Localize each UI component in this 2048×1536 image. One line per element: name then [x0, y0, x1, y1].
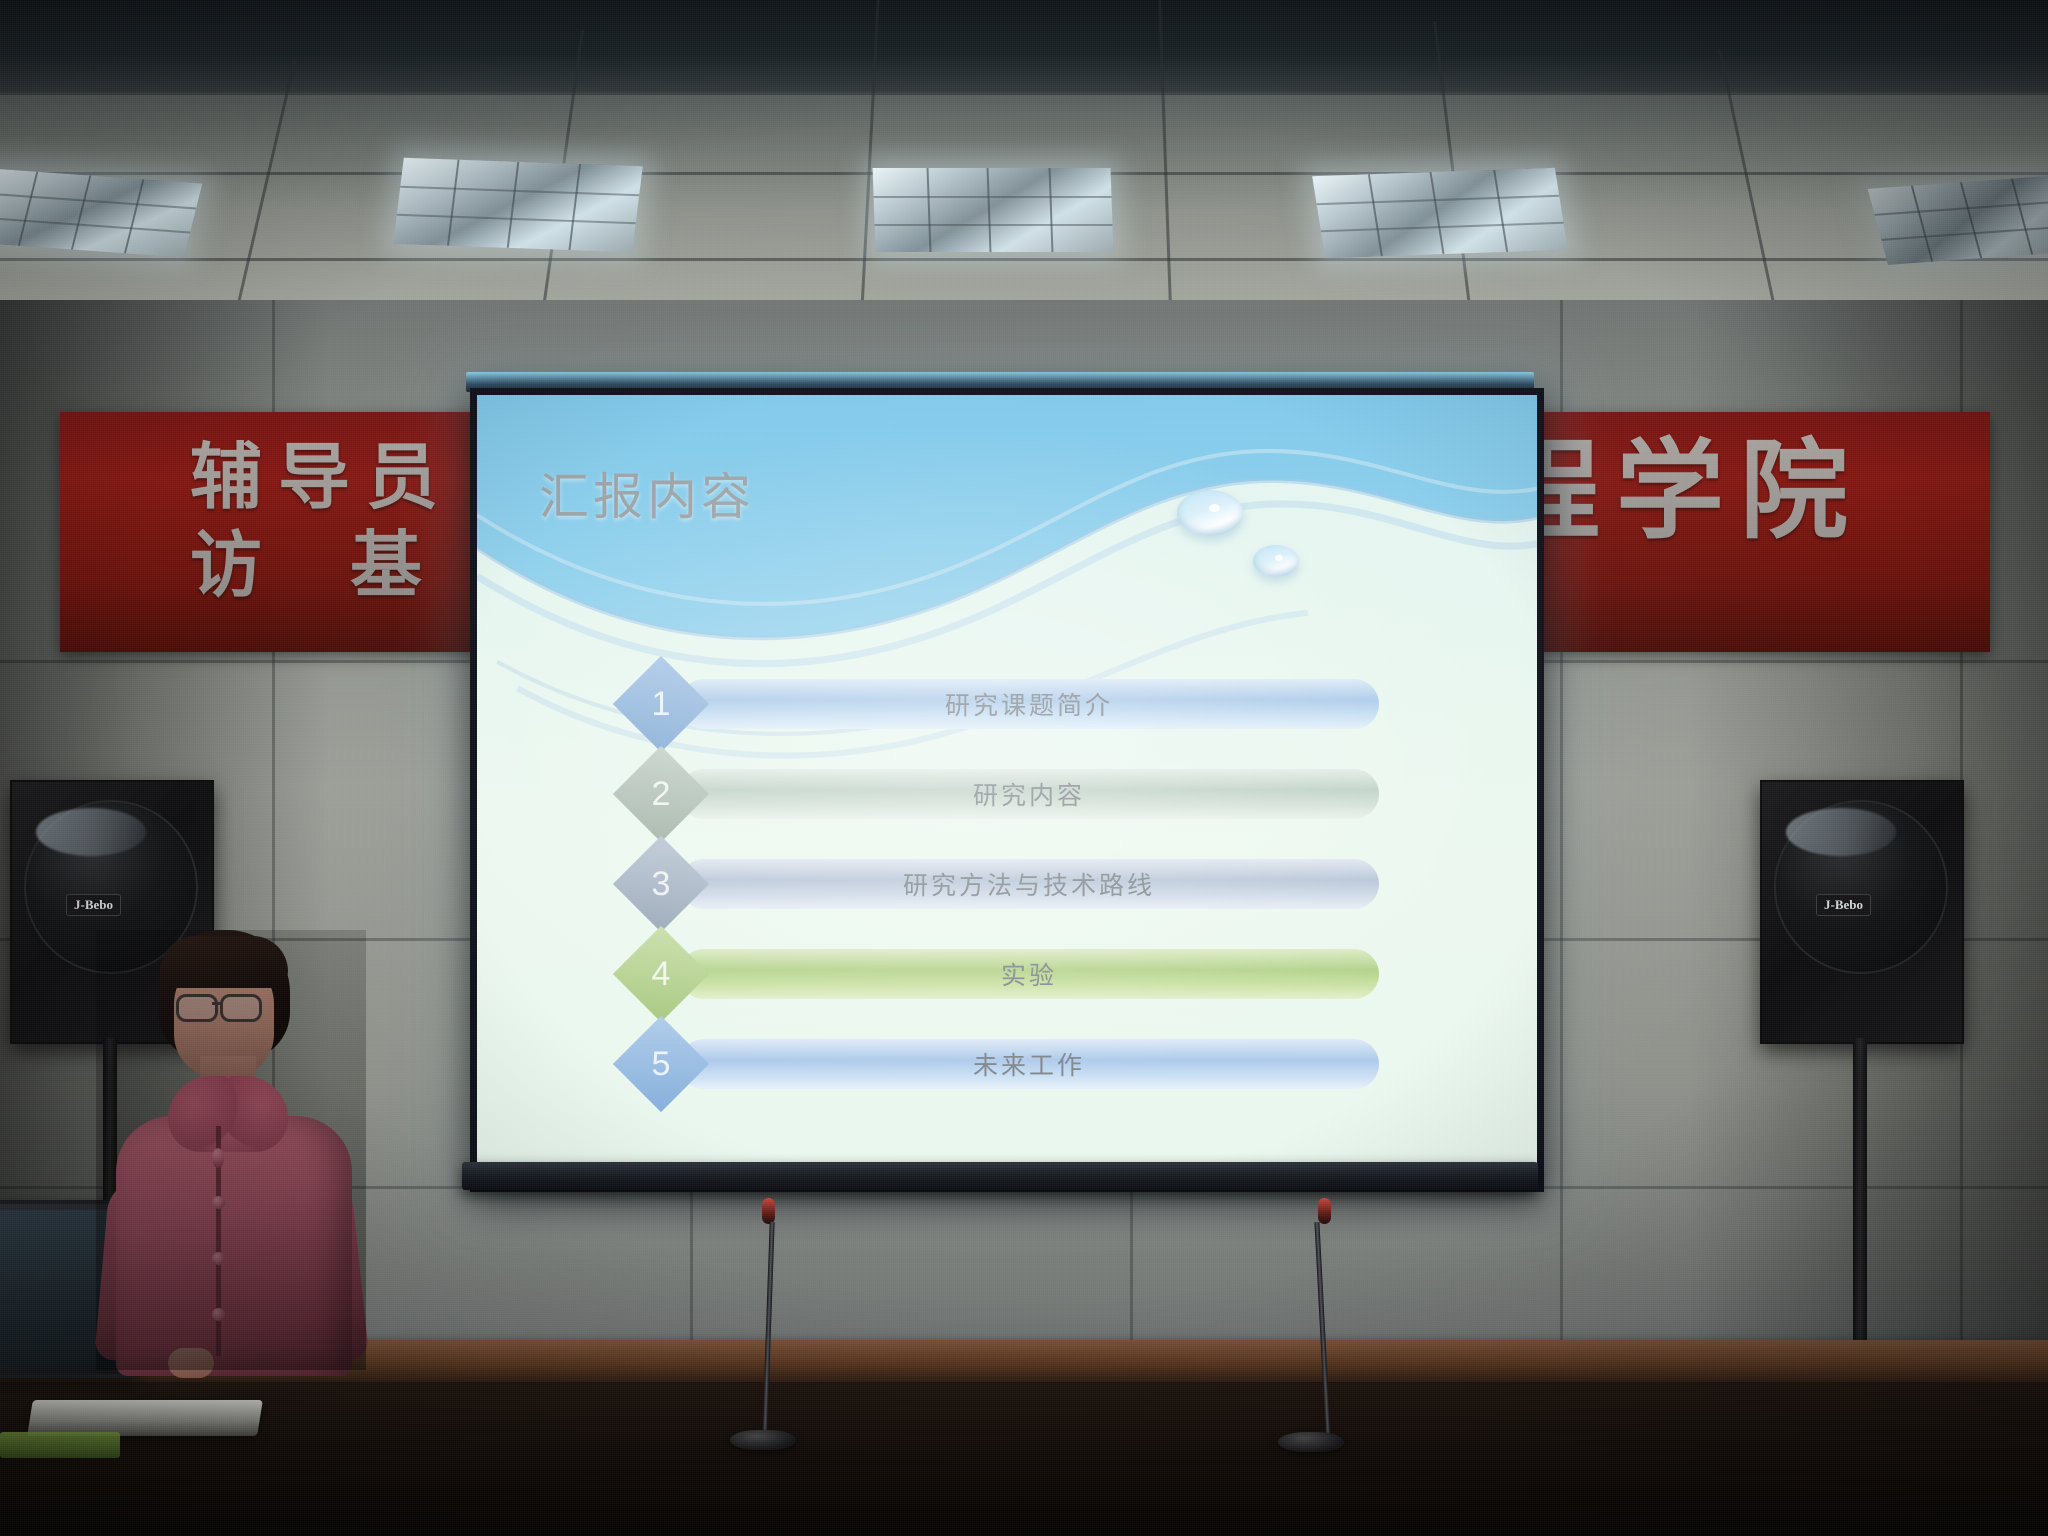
list-item-label: 研究内容	[679, 769, 1379, 819]
presenter-jacket	[116, 1116, 352, 1376]
presenter-hair-front	[160, 936, 288, 988]
list-item[interactable]: 未来工作 5	[627, 1025, 1427, 1115]
ceiling	[0, 0, 2048, 330]
presentation-slide: 汇报内容 研究课题简介 1 研究内容 2	[477, 395, 1537, 1185]
list-item-number: 3	[652, 864, 671, 903]
list-item-label: 研究方法与技术路线	[679, 859, 1379, 909]
ceiling-light-fixture	[393, 158, 643, 252]
list-item-diamond: 1	[613, 656, 709, 752]
list-item-number: 2	[652, 774, 671, 813]
banner-right-line1: 程学院	[1520, 436, 1864, 546]
slide-contents-list: 研究课题简介 1 研究内容 2 研究方法与技术路线 3	[627, 665, 1427, 1115]
speaker-brand-label: J-Bebo	[1816, 894, 1871, 916]
glasses-right-lens	[220, 994, 262, 1022]
list-item-number: 5	[652, 1044, 671, 1083]
jacket-button	[212, 1252, 225, 1265]
speaker-highlight	[1786, 808, 1896, 856]
audio-speaker-right: J-Bebo	[1760, 780, 1964, 1044]
wall-tile-line	[690, 1180, 693, 1360]
banner-left-line1: 辅导员	[190, 442, 454, 515]
glasses-left-lens	[176, 994, 218, 1022]
ceiling-grid-line	[0, 258, 2048, 261]
ceiling-shadow-band	[0, 0, 2048, 92]
microphone-base	[1278, 1432, 1344, 1452]
microphone-head	[762, 1198, 775, 1224]
microphone-base	[730, 1430, 796, 1450]
presenter-hand	[168, 1348, 214, 1378]
water-droplet-small	[1253, 545, 1299, 577]
list-item-label: 实验	[679, 949, 1379, 999]
list-item-label: 研究课题简介	[679, 679, 1379, 729]
microphone-head	[1318, 1198, 1331, 1224]
keyboard[interactable]	[27, 1400, 263, 1436]
projection-screen: 汇报内容 研究课题简介 1 研究内容 2	[470, 388, 1544, 1192]
speaker-stand-right	[1853, 1038, 1867, 1368]
banner-left-line2: 访 基 地	[190, 530, 510, 603]
list-item[interactable]: 研究课题简介 1	[627, 665, 1427, 755]
ceiling-light-fixture	[0, 168, 202, 257]
list-item-diamond: 5	[613, 1016, 709, 1112]
glasses-bridge	[212, 1002, 222, 1005]
ceiling-light-fixture	[873, 168, 1114, 252]
list-item-number: 1	[652, 684, 671, 723]
water-droplet-large	[1177, 490, 1243, 536]
speaker-highlight	[36, 808, 146, 856]
ceiling-light-fixture	[1868, 175, 2048, 265]
slide-title: 汇报内容	[539, 457, 755, 529]
jacket-button	[212, 1308, 225, 1321]
list-item[interactable]: 研究内容 2	[627, 755, 1427, 845]
list-item-label: 未来工作	[679, 1039, 1379, 1089]
ceiling-grid-line	[231, 60, 296, 330]
list-item[interactable]: 实验 4	[627, 935, 1427, 1025]
desk-front-panel	[0, 1382, 2048, 1536]
jacket-button	[212, 1196, 225, 1209]
presenter-ruffled-collar	[168, 1076, 288, 1152]
desk-object	[0, 1432, 120, 1458]
list-item-diamond: 3	[613, 836, 709, 932]
list-item[interactable]: 研究方法与技术路线 3	[627, 845, 1427, 935]
ceiling-light-fixture	[1312, 168, 1568, 259]
list-item-number: 4	[652, 954, 671, 993]
list-item-diamond: 4	[613, 926, 709, 1022]
presenter	[96, 930, 366, 1370]
conference-room-photo: 辅导员 访 基 地 程学院	[0, 0, 2048, 1536]
necklace-pendant	[212, 1148, 224, 1168]
ceiling-grid-line	[0, 92, 2048, 95]
red-banner-right: 程学院	[1520, 412, 1990, 652]
red-banner-left: 辅导员 访 基 地	[60, 412, 510, 652]
list-item-diamond: 2	[613, 746, 709, 842]
wall-tile-line	[1130, 1180, 1133, 1360]
projection-screen-bottom-rail	[462, 1162, 1538, 1190]
speaker-brand-label: J-Bebo	[66, 894, 121, 916]
